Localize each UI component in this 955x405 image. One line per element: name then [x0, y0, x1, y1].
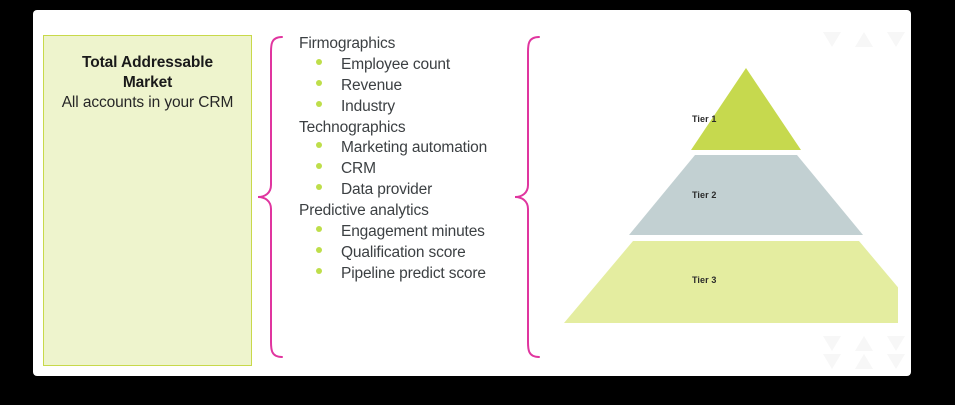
group-heading: Technographics: [299, 120, 515, 136]
bullet-dot-icon: [316, 80, 322, 86]
triangle-down-icon: [823, 354, 841, 369]
list-item-label: Industry: [341, 99, 395, 115]
list-item-label: Employee count: [341, 57, 450, 73]
group-heading: Predictive analytics: [299, 203, 515, 219]
list-item-label: Marketing automation: [341, 140, 487, 156]
total-addressable-market-box: Total Addressable Market All accounts in…: [43, 35, 252, 366]
curly-brace-left-icon: [257, 36, 283, 358]
list-item-label: Pipeline predict score: [341, 266, 486, 282]
pyramid-tier-3-shape: [564, 241, 898, 323]
slide-card: Total Addressable Market All accounts in…: [33, 10, 911, 376]
bullet-dot-icon: [316, 163, 322, 169]
triangle-down-icon: [887, 336, 905, 351]
pyramid-tier-3-label: Tier 3: [692, 275, 716, 285]
triangle-down-icon: [887, 354, 905, 369]
list-item: Qualification score: [299, 245, 515, 261]
screenshot-stage: Total Addressable Market All accounts in…: [0, 0, 955, 405]
attribute-group: Predictive analytics Engagement minutes …: [299, 203, 515, 281]
list-item: Revenue: [299, 78, 515, 94]
bullet-dot-icon: [316, 101, 322, 107]
triangle-up-icon: [855, 354, 873, 369]
bullet-dot-icon: [316, 226, 322, 232]
list-item-label: Data provider: [341, 182, 432, 198]
bullet-dot-icon: [316, 268, 322, 274]
pyramid-tier-1-label: Tier 1: [692, 114, 716, 124]
list-item-label: Engagement minutes: [341, 224, 485, 240]
list-item: Engagement minutes: [299, 224, 515, 240]
list-item: Marketing automation: [299, 140, 515, 156]
pyramid-tier-1-shape: [691, 68, 801, 150]
attribute-group: Firmographics Employee count Revenue Ind…: [299, 36, 515, 114]
list-item-label: CRM: [341, 161, 376, 177]
list-item: Employee count: [299, 57, 515, 73]
triangle-down-icon: [823, 32, 841, 47]
list-item: Industry: [299, 99, 515, 115]
tier-pyramid: [538, 46, 898, 331]
attribute-list: Firmographics Employee count Revenue Ind…: [299, 36, 515, 287]
list-item-label: Qualification score: [341, 245, 466, 261]
list-item: Pipeline predict score: [299, 266, 515, 282]
bullet-dot-icon: [316, 247, 322, 253]
bullet-dot-icon: [316, 59, 322, 65]
triangle-watermark-group-bottom-lower: [823, 354, 911, 369]
triangle-up-icon: [855, 32, 873, 47]
tam-title: Total Addressable Market: [58, 53, 237, 93]
bullet-dot-icon: [316, 184, 322, 190]
bullet-dot-icon: [316, 142, 322, 148]
list-item: Data provider: [299, 182, 515, 198]
triangle-down-icon: [887, 32, 905, 47]
triangle-down-icon: [823, 336, 841, 351]
tam-subtitle: All accounts in your CRM: [58, 93, 237, 113]
attribute-group: Technographics Marketing automation CRM …: [299, 120, 515, 198]
list-item-label: Revenue: [341, 78, 402, 94]
pyramid-tier-2-label: Tier 2: [692, 190, 716, 200]
triangle-watermark-group-top: [823, 32, 911, 47]
triangle-watermark-group-bottom-upper: [823, 336, 911, 351]
pyramid-tier-2-shape: [629, 155, 863, 235]
curly-brace-right-icon: [514, 36, 540, 358]
list-item: CRM: [299, 161, 515, 177]
triangle-up-icon: [855, 336, 873, 351]
group-heading: Firmographics: [299, 36, 515, 52]
